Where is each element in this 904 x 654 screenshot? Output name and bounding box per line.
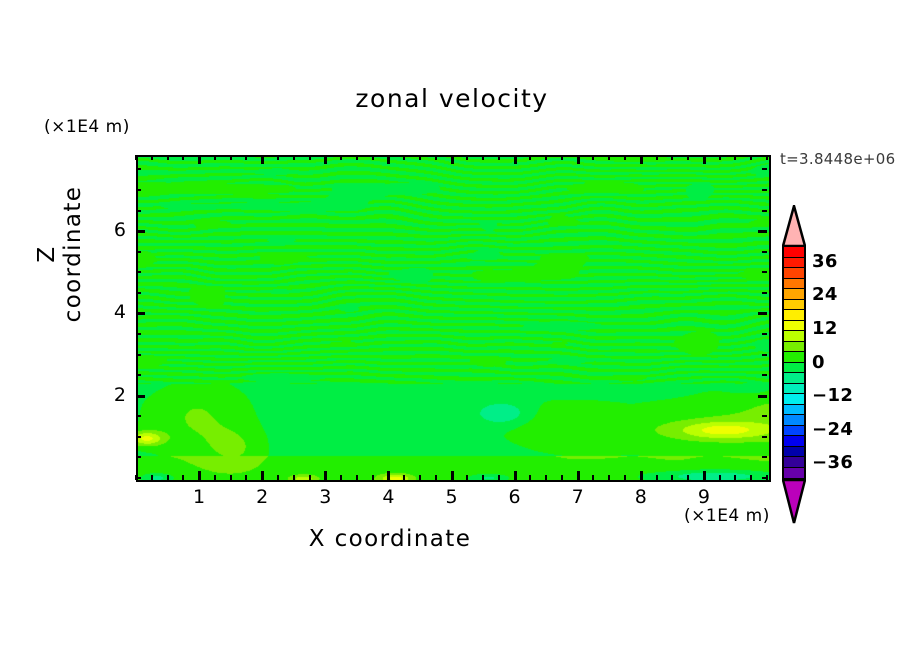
x-minor-tick-top [214,155,216,160]
x-minor-tick-top [435,155,437,160]
y-minor-tick-right [762,210,767,212]
x-minor-tick-top [309,155,311,160]
x-tick-label: 9 [684,486,724,508]
x-major-tick [198,471,201,480]
x-major-tick-top [261,155,264,164]
colorbar-band [784,426,804,437]
colorbar-band [784,352,804,363]
colorbar-band [784,289,804,300]
x-minor-tick-top [167,155,169,160]
colorbar-band [784,258,804,269]
page-title: zonal velocity [0,84,904,113]
x-minor-tick [309,475,311,480]
y-minor-tick [136,477,141,479]
y-tick-label: 6 [86,219,126,241]
colorbar-band [784,394,804,405]
x-major-tick [451,471,454,480]
x-major-tick-top [198,155,201,164]
x-minor-tick [403,475,405,480]
x-minor-tick [214,475,216,480]
y-minor-tick [136,436,141,438]
colorbar-tick-label: 24 [812,284,838,305]
y-axis-unit-label: (×1E4 m) [44,117,130,137]
colorbar-legend: 3624120−12−24−36 [782,205,808,520]
x-major-tick-top [577,155,580,164]
x-minor-tick [608,475,610,480]
y-minor-tick [136,354,141,356]
x-major-tick-top [514,155,517,164]
x-minor-tick-top [151,155,153,160]
colorbar-bands [782,245,806,480]
colorbar-band [784,342,804,353]
x-minor-tick-top [372,155,374,160]
colorbar-band [784,321,804,332]
x-minor-tick-top [687,155,689,160]
x-minor-tick [356,475,358,480]
x-major-tick [577,471,580,480]
x-minor-tick-top [656,155,658,160]
colorbar-band [784,373,804,384]
x-axis-unit-label: (×1E4 m) [684,506,770,526]
x-tick-label: 5 [432,486,472,508]
x-minor-tick [561,475,563,480]
x-tick-label: 3 [305,486,345,508]
x-major-tick [324,471,327,480]
y-minor-tick-right [762,251,767,253]
x-minor-tick [734,475,736,480]
y-minor-tick-right [762,189,767,191]
y-minor-tick-right [762,456,767,458]
colorbar-band [784,457,804,468]
x-minor-tick-top [245,155,247,160]
x-major-tick [640,471,643,480]
y-minor-tick-right [762,271,767,273]
x-minor-tick [167,475,169,480]
y-major-tick [136,230,145,233]
colorbar-band [784,279,804,290]
x-minor-tick [182,475,184,480]
x-minor-tick [151,475,153,480]
x-minor-tick-top [671,155,673,160]
x-major-tick [387,471,390,480]
colorbar-band [784,468,804,479]
x-minor-tick-top [561,155,563,160]
y-major-tick-right [758,230,767,233]
contour-plot-area [136,155,771,482]
x-tick-label: 4 [368,486,408,508]
x-minor-tick [750,475,752,480]
x-major-tick [703,471,706,480]
x-minor-tick-top [403,155,405,160]
x-minor-tick [245,475,247,480]
x-major-tick-top [640,155,643,164]
colorbar-band [784,447,804,458]
x-minor-tick [340,475,342,480]
y-minor-tick [136,333,141,335]
x-tick-label: 2 [242,486,282,508]
x-minor-tick [293,475,295,480]
y-major-tick-right [758,312,767,315]
x-tick-label: 7 [558,486,598,508]
x-minor-tick-top [734,155,736,160]
colorbar-underflow-arrow [782,479,806,524]
x-minor-tick [230,475,232,480]
x-tick-label: 8 [621,486,661,508]
x-minor-tick-top [135,155,137,160]
x-minor-tick-top [545,155,547,160]
x-minor-tick [372,475,374,480]
x-minor-tick-top [482,155,484,160]
y-minor-tick-right [762,477,767,479]
y-minor-tick [136,415,141,417]
x-minor-tick-top [466,155,468,160]
colorbar-tick-label: −36 [812,452,853,473]
x-minor-tick-top [340,155,342,160]
colorbar-band [784,436,804,447]
y-major-tick-right [758,395,767,398]
colorbar-tick-label: 12 [812,318,838,339]
x-minor-tick [624,475,626,480]
y-minor-tick-right [762,333,767,335]
x-minor-tick [498,475,500,480]
figure-canvas: zonal velocity (×1E4 m) t=3.8448e+06 Z c… [0,0,904,654]
y-minor-tick [136,271,141,273]
x-minor-tick-top [608,155,610,160]
x-axis-title: X coordinate [0,526,780,552]
y-tick-label: 4 [86,301,126,323]
x-minor-tick [466,475,468,480]
x-minor-tick [545,475,547,480]
colorbar-band [784,310,804,321]
x-minor-tick-top [277,155,279,160]
colorbar-band [784,300,804,311]
x-tick-label: 1 [179,486,219,508]
x-major-tick-top [387,155,390,164]
y-minor-tick [136,189,141,191]
x-minor-tick-top [419,155,421,160]
y-minor-tick [136,251,141,253]
y-major-tick [136,395,145,398]
y-minor-tick-right [762,436,767,438]
colorbar-tick-label: −12 [812,385,853,406]
x-minor-tick-top [529,155,531,160]
x-minor-tick [419,475,421,480]
colorbar-band [784,384,804,395]
x-major-tick [261,471,264,480]
colorbar-tick-label: 0 [812,352,825,373]
y-tick-label: 2 [86,384,126,406]
x-major-tick-top [703,155,706,164]
colorbar-overflow-arrow [782,205,806,247]
x-minor-tick-top [182,155,184,160]
x-minor-tick-top [230,155,232,160]
colorbar-band [784,363,804,374]
y-minor-tick-right [762,415,767,417]
x-minor-tick [277,475,279,480]
y-minor-tick [136,456,141,458]
x-minor-tick-top [624,155,626,160]
x-minor-tick [719,475,721,480]
time-annotation: t=3.8448e+06 [780,150,895,168]
y-minor-tick [136,168,141,170]
x-minor-tick [529,475,531,480]
x-minor-tick [482,475,484,480]
contour-field [138,157,769,480]
x-minor-tick-top [766,155,768,160]
y-minor-tick [136,374,141,376]
x-minor-tick [687,475,689,480]
colorbar-band [784,415,804,426]
y-minor-tick-right [762,354,767,356]
y-minor-tick-right [762,374,767,376]
x-minor-tick-top [750,155,752,160]
colorbar-band [784,268,804,279]
x-minor-tick [592,475,594,480]
x-tick-label: 6 [495,486,535,508]
y-axis-title: Z coordinate [34,174,86,334]
y-minor-tick [136,292,141,294]
y-minor-tick-right [762,168,767,170]
x-major-tick [514,471,517,480]
y-major-tick [136,312,145,315]
x-minor-tick [656,475,658,480]
x-major-tick-top [324,155,327,164]
colorbar-band [784,405,804,416]
x-minor-tick-top [356,155,358,160]
colorbar-band [784,247,804,258]
x-minor-tick [671,475,673,480]
colorbar-tick-label: 36 [812,251,838,272]
y-minor-tick [136,210,141,212]
colorbar-band [784,331,804,342]
x-minor-tick-top [719,155,721,160]
x-minor-tick-top [293,155,295,160]
y-minor-tick-right [762,292,767,294]
x-minor-tick-top [498,155,500,160]
x-minor-tick [435,475,437,480]
colorbar-tick-label: −24 [812,419,853,440]
x-major-tick-top [451,155,454,164]
x-minor-tick-top [592,155,594,160]
